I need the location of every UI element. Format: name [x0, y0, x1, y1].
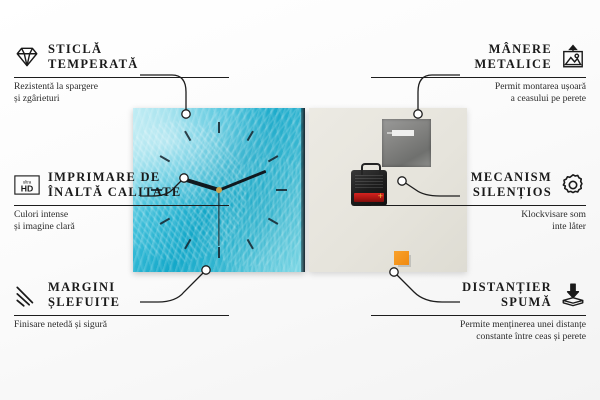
feature-title-line2: SPUMĂ [462, 295, 552, 310]
feature-title-line1: MARGINI [48, 280, 120, 295]
feature-head: ultra HD IMPRIMARE DE ÎNALTĂ CALITATE [14, 170, 229, 201]
metal-hanger-plate [382, 119, 431, 167]
feature-title: MÂNERE METALICE [474, 42, 552, 73]
feature-foam-spacer: DISTANȚIER SPUMĂ Permite menținerea unei… [371, 280, 586, 344]
feature-head: MECANISM SILENȚIOS [371, 170, 586, 201]
hanger-slot [392, 130, 414, 136]
ultra-hd-icon-big-label: HD [21, 184, 34, 194]
feature-desc-line1: Klockvisare som [371, 209, 586, 222]
feature-polished-edges: MARGINI ȘLEFUITE Finisare netedă și sigu… [14, 280, 229, 331]
feature-title: MECANISM SILENȚIOS [471, 170, 552, 201]
feature-title-line2: ÎNALTĂ CALITATE [48, 185, 182, 200]
clock-tick [276, 189, 287, 191]
feature-title-line1: MÂNERE [474, 42, 552, 57]
feature-head: DISTANȚIER SPUMĂ [371, 280, 586, 311]
feature-desc-line2: și zgârieturi [14, 93, 229, 106]
feature-title: DISTANȚIER SPUMĂ [462, 280, 552, 311]
clock-tick [218, 247, 220, 258]
feature-silent-mechanism: MECANISM SILENȚIOS Klockvisare som inte … [371, 170, 586, 234]
feature-description: Permite menținerea unei distanțe constan… [371, 319, 586, 344]
feature-divider [371, 77, 586, 78]
product-feature-infographic: STICLĂ TEMPERATĂ Rezistentă la spargere … [0, 0, 600, 400]
feature-desc-line2: inte låter [371, 221, 586, 234]
feature-desc-line2: a ceasului pe perete [371, 93, 586, 106]
feature-metal-hangers: MÂNERE METALICE Permit montarea ușoară a… [371, 42, 586, 106]
feature-description: Culori intense și imagine clară [14, 209, 229, 234]
feature-head: MARGINI ȘLEFUITE [14, 280, 229, 311]
gear-icon [560, 172, 586, 198]
foam-spacer-icon [560, 282, 586, 308]
foam-spacer-pad [394, 251, 409, 265]
feature-title-line1: IMPRIMARE DE [48, 170, 182, 185]
feature-desc-line1: Permit montarea ușoară [371, 81, 586, 94]
feature-description: Finisare netedă și sigură [14, 319, 229, 332]
feature-title-line2: SILENȚIOS [471, 185, 552, 200]
feature-tempered-glass: STICLĂ TEMPERATĂ Rezistentă la spargere … [14, 42, 229, 106]
feature-divider [14, 205, 229, 206]
clock-glass-edge [301, 108, 305, 272]
clock-tick [218, 122, 220, 133]
feature-high-quality-print: ultra HD IMPRIMARE DE ÎNALTĂ CALITATE Cu… [14, 170, 229, 234]
feature-head: STICLĂ TEMPERATĂ [14, 42, 229, 73]
feature-desc-line2: și imagine clară [14, 221, 229, 234]
feature-desc-line1: Permite menținerea unei distanțe [371, 319, 586, 332]
feature-title: STICLĂ TEMPERATĂ [48, 42, 139, 73]
feature-divider [14, 77, 229, 78]
feature-title-line2: TEMPERATĂ [48, 57, 139, 72]
diamond-icon [14, 44, 40, 70]
picture-hanger-icon [560, 44, 586, 70]
feature-title-line1: STICLĂ [48, 42, 139, 57]
feature-head: MÂNERE METALICE [371, 42, 586, 73]
feature-desc-line1: Culori intense [14, 209, 229, 222]
feature-title-line2: ȘLEFUITE [48, 295, 120, 310]
feature-title: MARGINI ȘLEFUITE [48, 280, 120, 311]
feature-divider [371, 205, 586, 206]
feature-title-line1: MECANISM [471, 170, 552, 185]
feature-desc-line2: constante între ceas și perete [371, 331, 586, 344]
feature-description: Permit montarea ușoară a ceasului pe per… [371, 81, 586, 106]
feature-divider [14, 315, 229, 316]
feature-title-line1: DISTANȚIER [462, 280, 552, 295]
ultra-hd-icon: ultra HD [14, 172, 40, 198]
feature-title-line2: METALICE [474, 57, 552, 72]
feature-title: IMPRIMARE DE ÎNALTĂ CALITATE [48, 170, 182, 201]
feature-description: Klockvisare som inte låter [371, 209, 586, 234]
feature-divider [371, 315, 586, 316]
feature-desc-line1: Finisare netedă și sigură [14, 319, 229, 332]
polished-edges-icon [14, 282, 40, 308]
feature-description: Rezistentă la spargere și zgârieturi [14, 81, 229, 106]
feature-desc-line1: Rezistentă la spargere [14, 81, 229, 94]
